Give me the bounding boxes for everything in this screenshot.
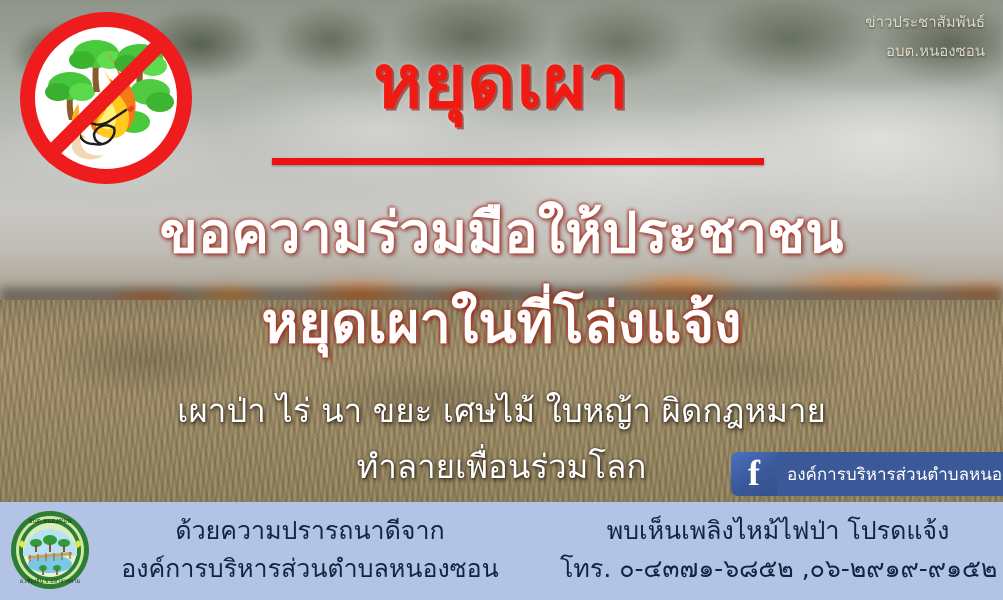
sub-line-1: เผาป่า ไร่ นา ขยะ เศษไม้ ใบหญ้า ผิดกฎหมา… xyxy=(0,384,1003,437)
bottom-left-text: ด้วยความปรารถนาดีจาก องค์การบริหารส่วนตำ… xyxy=(100,512,520,588)
bottom-contact-bar: อบต.หนองซอน อ.เชียงยืน จ.มหาสารคาม ด้วยค… xyxy=(0,502,1003,600)
bottom-left-line2: องค์การบริหารส่วนตำบลหนองซอน xyxy=(100,550,520,588)
facebook-f-glyph: f xyxy=(748,452,760,494)
svg-text:อบต.หนองซอน: อบต.หนองซอน xyxy=(29,517,72,525)
bottom-right-text: พบเห็นเพลิงไหม้ไฟป่า โปรดแจ้ง โทร. ๐-๔๓๗… xyxy=(560,512,996,588)
slogan-line-1: ขอความร่วมมือให้ประชาชน xyxy=(0,188,1003,277)
poster-canvas: ข่าวประชาสัมพันธ์ อบต.หนองซอน หยุดเผา ขอ… xyxy=(0,0,1003,600)
svg-text:อ.เชียงยืน จ.มหาสารคาม: อ.เชียงยืน จ.มหาสารคาม xyxy=(20,578,81,585)
facebook-badge[interactable]: f องค์การบริหารส่วนตำบลหนองซอน xyxy=(731,452,1003,496)
page-title: หยุดเผา xyxy=(0,22,1003,140)
facebook-f-icon: f xyxy=(731,452,777,496)
facebook-page-name: องค์การบริหารส่วนตำบลหนองซอน xyxy=(777,452,1003,496)
divider-rule xyxy=(272,158,764,165)
bottom-left-line1: ด้วยความปรารถนาดีจาก xyxy=(100,512,520,550)
bottom-right-phone: โทร. ๐-๔๓๗๑-๖๘๕๒ ,๐๖-๒๙๑๙-๙๑๕๒ xyxy=(560,550,996,588)
slogan-line-2: หยุดเผาในที่โล่งแจ้ง xyxy=(0,278,1003,367)
subdistrict-seal-icon: อบต.หนองซอน อ.เชียงยืน จ.มหาสารคาม xyxy=(10,510,90,594)
bottom-right-line1: พบเห็นเพลิงไหม้ไฟป่า โปรดแจ้ง xyxy=(560,512,996,550)
